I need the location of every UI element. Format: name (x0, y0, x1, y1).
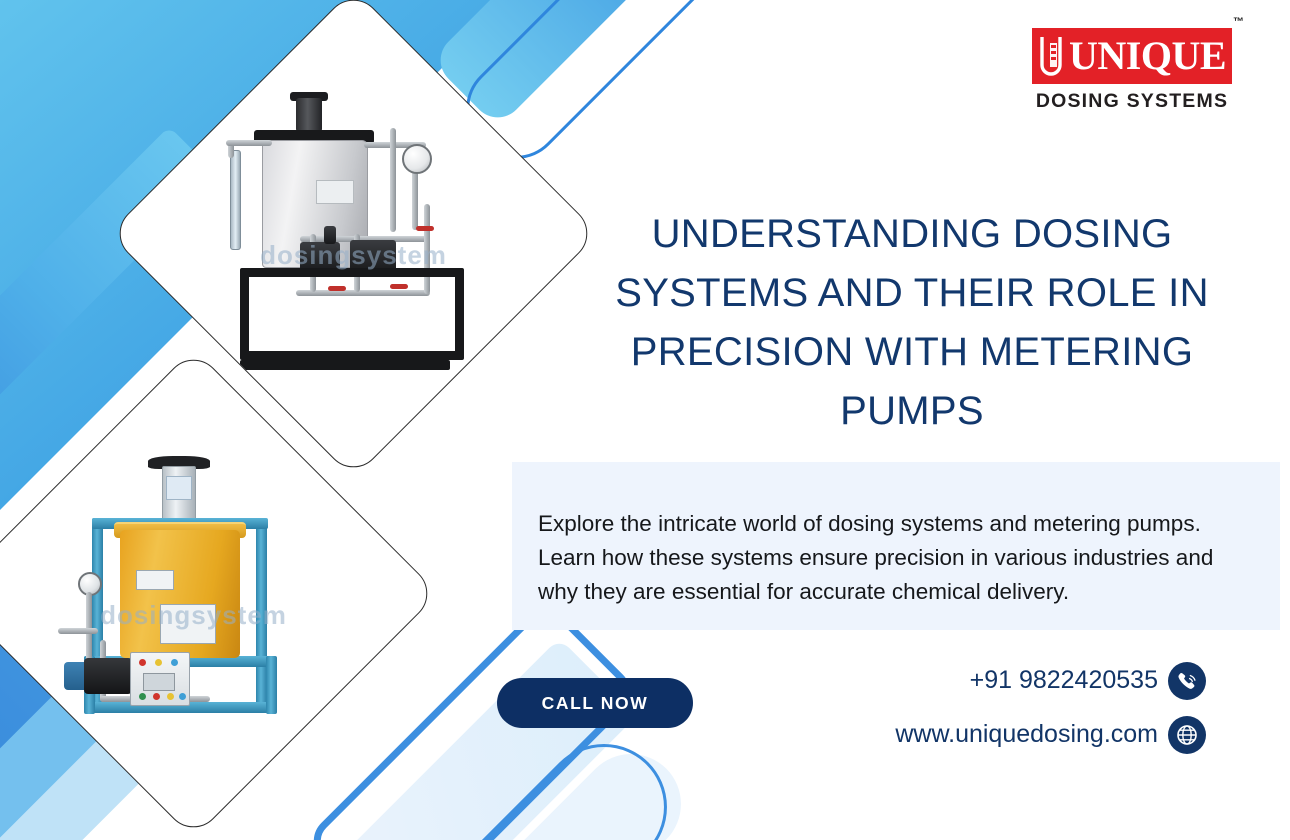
indicator-led-red (139, 659, 146, 666)
globe-icon[interactable] (1168, 716, 1206, 754)
button-green (139, 693, 146, 700)
pipe-segment (85, 592, 91, 662)
description-panel: Explore the intricate world of dosing sy… (512, 462, 1280, 630)
indicator-led-yellow (155, 659, 162, 666)
brand-logo: UNIQUE ™ DOSING SYSTEMS (1032, 28, 1232, 113)
steel-base-frame (240, 268, 464, 360)
level-sight-glass (229, 150, 240, 250)
logo-tagline: DOSING SYSTEMS (1032, 90, 1232, 113)
phone-number: +91 9822420535 (970, 666, 1158, 695)
marketing-banner: dosingsystem (0, 0, 1290, 840)
contact-phone[interactable]: +91 9822420535 (970, 666, 1158, 695)
button-red (152, 693, 159, 700)
pipe-segment (57, 628, 97, 634)
valve-handle (416, 226, 434, 231)
yellow-caustic-tank-illustration: dosingsystem (43, 444, 343, 744)
steel-base-bar (240, 360, 450, 370)
pipe-segment (390, 128, 396, 232)
logo-red-box: UNIQUE ™ (1032, 28, 1232, 84)
grey-dosing-skid-illustration: dosingsystem (203, 84, 503, 384)
agitator-motor (296, 98, 322, 132)
beaker-icon (1038, 35, 1068, 77)
button-blue (179, 693, 186, 700)
pressure-gauge (402, 144, 432, 174)
trademark-symbol: ™ (1233, 16, 1244, 28)
tank-nameplate (316, 180, 354, 204)
control-panel (130, 652, 190, 706)
pipe-segment (226, 140, 272, 146)
frame-post (256, 518, 267, 710)
pipe-segment (412, 168, 418, 230)
column-label (166, 476, 192, 500)
tank-nameplate (136, 570, 174, 590)
metering-pump (83, 658, 131, 694)
call-now-button[interactable]: CALL NOW (497, 678, 693, 728)
product-image-bottom: dosingsystem (21, 421, 366, 766)
button-yellow (167, 693, 174, 700)
description-text: Explore the intricate world of dosing sy… (538, 507, 1250, 609)
pump-motor (324, 226, 336, 244)
phone-icon[interactable] (1168, 662, 1206, 700)
page-title: Understanding Dosing Systems and their R… (612, 205, 1212, 441)
frame-leg (266, 656, 277, 714)
contact-website[interactable]: www.uniquedosing.com (895, 720, 1158, 749)
logo-wordmark: UNIQUE (1069, 35, 1226, 77)
product-image-top: dosingsystem (181, 61, 526, 406)
indicator-led-blue (171, 659, 178, 666)
tank-spec-plate (160, 604, 216, 644)
website-url: www.uniquedosing.com (895, 720, 1158, 749)
panel-display (143, 673, 175, 691)
